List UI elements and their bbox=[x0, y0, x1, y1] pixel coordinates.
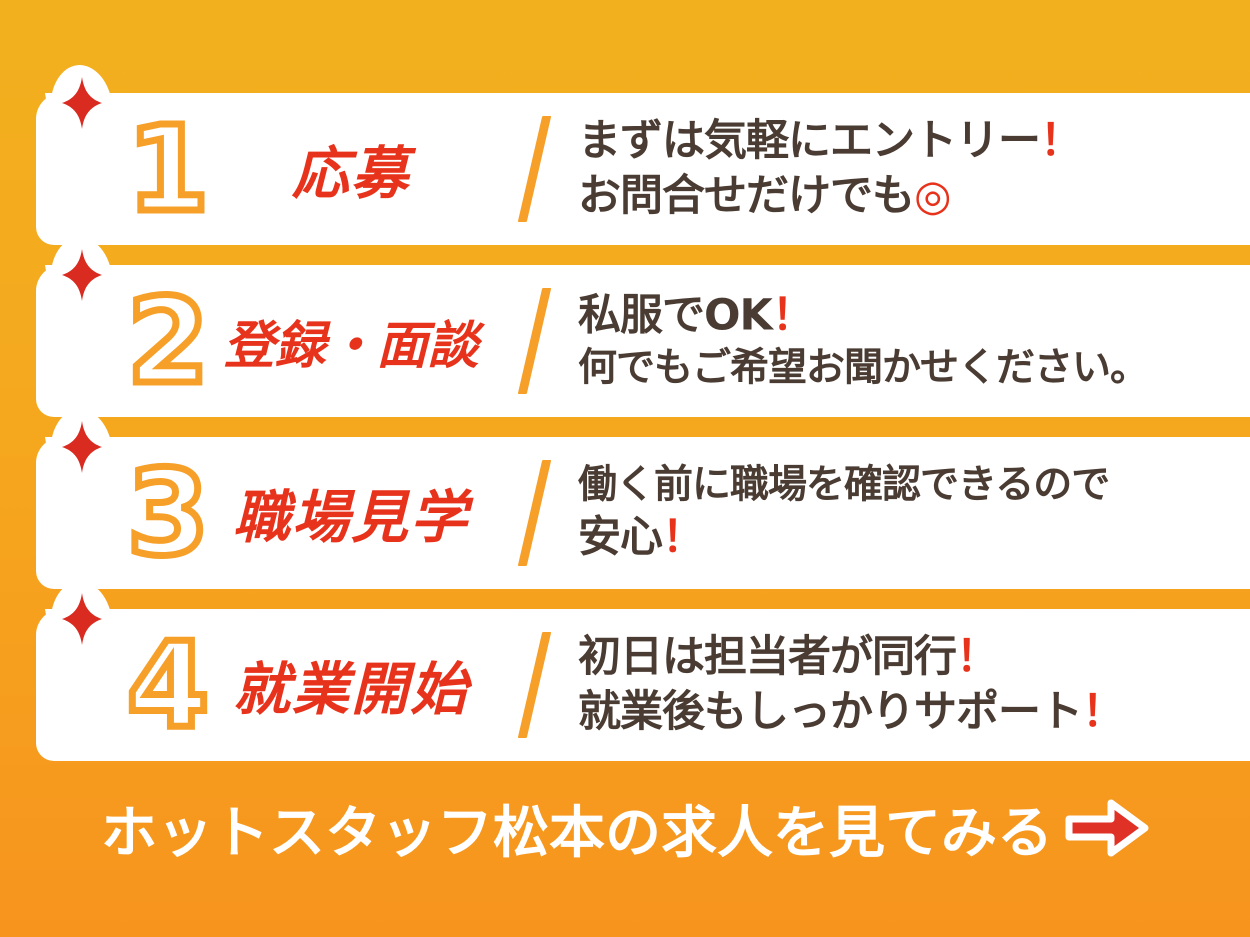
step-row[interactable]: 3 職場見学 働く前に職場を確認できるので 安心！ bbox=[0, 437, 1250, 589]
step-description-line: 働く前に職場を確認できるので bbox=[578, 461, 1230, 511]
arrow-right-icon[interactable] bbox=[1065, 797, 1149, 859]
desc-accent: ！ bbox=[662, 512, 704, 562]
step-description-line: 何でもご希望お聞かせください。 bbox=[578, 344, 1230, 394]
desc-text: 初日は担当者が同行 bbox=[578, 632, 956, 682]
step-description-line: 安心！ bbox=[578, 510, 1230, 565]
step-row[interactable]: 1 応募 まずは気軽にエントリー！ お問合せだけでも◎ bbox=[0, 93, 1250, 245]
sparkle-icon bbox=[62, 249, 102, 301]
step-label: 応募 bbox=[196, 128, 506, 210]
desc-text: 就業後もしっかりサポート bbox=[578, 687, 1082, 737]
desc-accent: ！ bbox=[1040, 116, 1082, 166]
step-description-line: 私服でOK！ bbox=[578, 289, 1230, 344]
step-row[interactable]: 4 就業開始 初日は担当者が同行！ 就業後もしっかりサポート！ bbox=[0, 609, 1250, 761]
step-description-line: まずは気軽にエントリー！ bbox=[578, 114, 1230, 169]
promo-poster: 1 応募 まずは気軽にエントリー！ お問合せだけでも◎ 2 登録・面談 私服でO… bbox=[0, 0, 1250, 937]
step-description-line: お問合せだけでも◎ bbox=[578, 169, 1230, 224]
sparkle-icon bbox=[62, 421, 102, 473]
desc-text: 何でもご希望お聞かせください。 bbox=[578, 346, 1148, 391]
step-description: 働く前に職場を確認できるので 安心！ bbox=[578, 461, 1230, 566]
steps-list: 1 応募 まずは気軽にエントリー！ お問合せだけでも◎ 2 登録・面談 私服でO… bbox=[0, 93, 1250, 781]
desc-accent: ！ bbox=[1082, 687, 1124, 737]
step-label: 就業開始 bbox=[196, 644, 506, 726]
desc-accent: ！ bbox=[772, 291, 814, 341]
desc-accent: ◎ bbox=[914, 171, 951, 221]
step-row[interactable]: 2 登録・面談 私服でOK！ 何でもご希望お聞かせください。 bbox=[0, 265, 1250, 417]
desc-text: まずは気軽にエントリー bbox=[578, 116, 1040, 166]
desc-text: 働く前に職場を確認できるので bbox=[578, 463, 1109, 508]
step-label: 職場見学 bbox=[196, 472, 506, 554]
cta-main: 求人を見てみる bbox=[661, 788, 1053, 869]
cta-banner[interactable]: ホットスタッフ松本の 求人を見てみる bbox=[0, 785, 1250, 871]
desc-text: お問合せだけでも bbox=[578, 171, 914, 221]
desc-accent: ！ bbox=[956, 632, 998, 682]
step-description-line: 初日は担当者が同行！ bbox=[578, 630, 1230, 685]
step-description: 初日は担当者が同行！ 就業後もしっかりサポート！ bbox=[578, 630, 1230, 740]
step-description: 私服でOK！ 何でもご希望お聞かせください。 bbox=[578, 289, 1230, 394]
cta-prefix: ホットスタッフ松本の bbox=[101, 788, 661, 869]
sparkle-icon bbox=[62, 77, 102, 129]
desc-text: 私服でOK bbox=[578, 291, 772, 341]
desc-text: 安心 bbox=[578, 512, 662, 562]
step-label: 登録・面談 bbox=[196, 304, 506, 378]
sparkle-icon bbox=[62, 593, 102, 645]
step-description: まずは気軽にエントリー！ お問合せだけでも◎ bbox=[578, 114, 1230, 224]
step-description-line: 就業後もしっかりサポート！ bbox=[578, 685, 1230, 740]
